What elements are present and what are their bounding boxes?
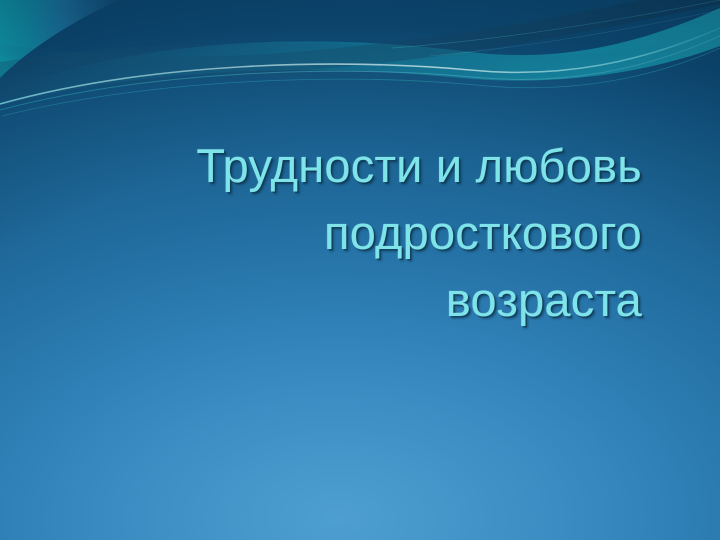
ribbon-navy-upper — [0, 0, 720, 73]
ribbon-teal-left — [0, 0, 118, 78]
ribbon-navy-lower — [0, 26, 720, 100]
slide-title-line-3: возраста — [60, 266, 642, 333]
ribbon-teal-right — [0, 8, 720, 106]
presentation-slide: Трудности и любовь подросткового возраст… — [0, 0, 720, 540]
ribbon-highlight-line — [0, 28, 720, 104]
ribbon-thin-stroke-right — [392, 0, 720, 48]
slide-title-line-2: подросткового — [60, 199, 642, 266]
ribbon-curves-svg — [0, 0, 720, 135]
flowing-ribbon-band-decoration — [0, 0, 720, 135]
slide-title: Трудности и любовь подросткового возраст… — [60, 132, 642, 333]
ribbon-thin-stroke-right-2 — [430, 10, 720, 56]
slide-title-line-1: Трудности и любовь — [60, 132, 642, 199]
ribbon-highlight-line-secondary — [0, 36, 720, 110]
ribbon-highlight-line-tertiary — [2, 48, 720, 116]
